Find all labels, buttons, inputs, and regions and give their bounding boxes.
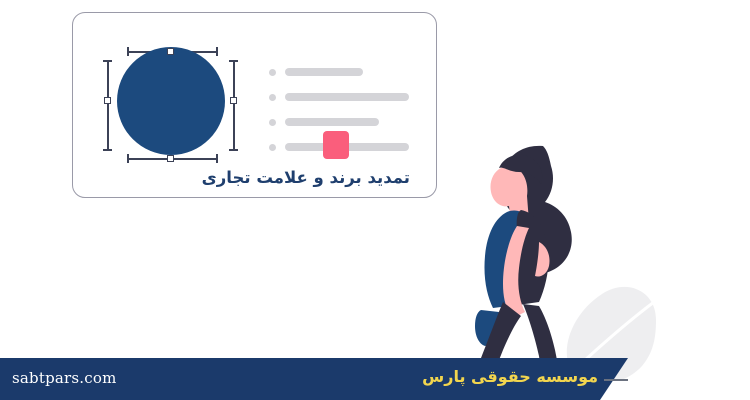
footer-website-url[interactable]: sabtpars.com: [12, 369, 117, 387]
selection-cap-bottom-left: [127, 154, 129, 163]
footer-divider-line: [604, 379, 628, 381]
selection-edge-left: [107, 60, 109, 150]
bullet-dot-icon: [269, 144, 276, 151]
card-title: تمدید برند و علامت تجاری: [73, 168, 410, 187]
resize-handle-left-middle[interactable]: [104, 97, 111, 104]
accent-square-shape: [323, 131, 349, 159]
bullet-dot-icon: [269, 69, 276, 76]
person-illustration: [455, 138, 600, 373]
placeholder-bar: [285, 68, 363, 76]
brand-logo-circle-shape[interactable]: [117, 47, 225, 155]
selection-edge-right: [233, 60, 235, 150]
bullet-dot-icon: [269, 94, 276, 101]
screenshot-canvas: تمدید برند و علامت تجاری: [0, 0, 750, 400]
footer-brand-name: موسسه حقوقی پارس: [422, 367, 598, 386]
bullet-dot-icon: [269, 119, 276, 126]
selection-cap-right-bottom: [229, 149, 238, 151]
illustration-card: تمدید برند و علامت تجاری: [72, 12, 437, 198]
footer-bar: sabtpars.com موسسه حقوقی پارس: [0, 358, 750, 400]
selection-cap-bottom-right: [216, 154, 218, 163]
resize-handle-bottom-center[interactable]: [167, 155, 174, 162]
placeholder-bar: [285, 93, 409, 101]
list-item: [269, 143, 429, 152]
resize-handle-right-middle[interactable]: [230, 97, 237, 104]
placeholder-text-list: [269, 68, 429, 168]
selection-cap-right-top: [229, 60, 238, 62]
list-item: [269, 68, 429, 77]
resize-handle-top-center[interactable]: [167, 48, 174, 55]
placeholder-bar: [285, 118, 379, 126]
selection-cap-left-top: [103, 60, 112, 62]
selection-cap-top-right: [216, 47, 218, 56]
selection-cap-left-bottom: [103, 149, 112, 151]
selection-cap-top-left: [127, 47, 129, 56]
list-item: [269, 93, 429, 102]
list-item: [269, 118, 429, 127]
